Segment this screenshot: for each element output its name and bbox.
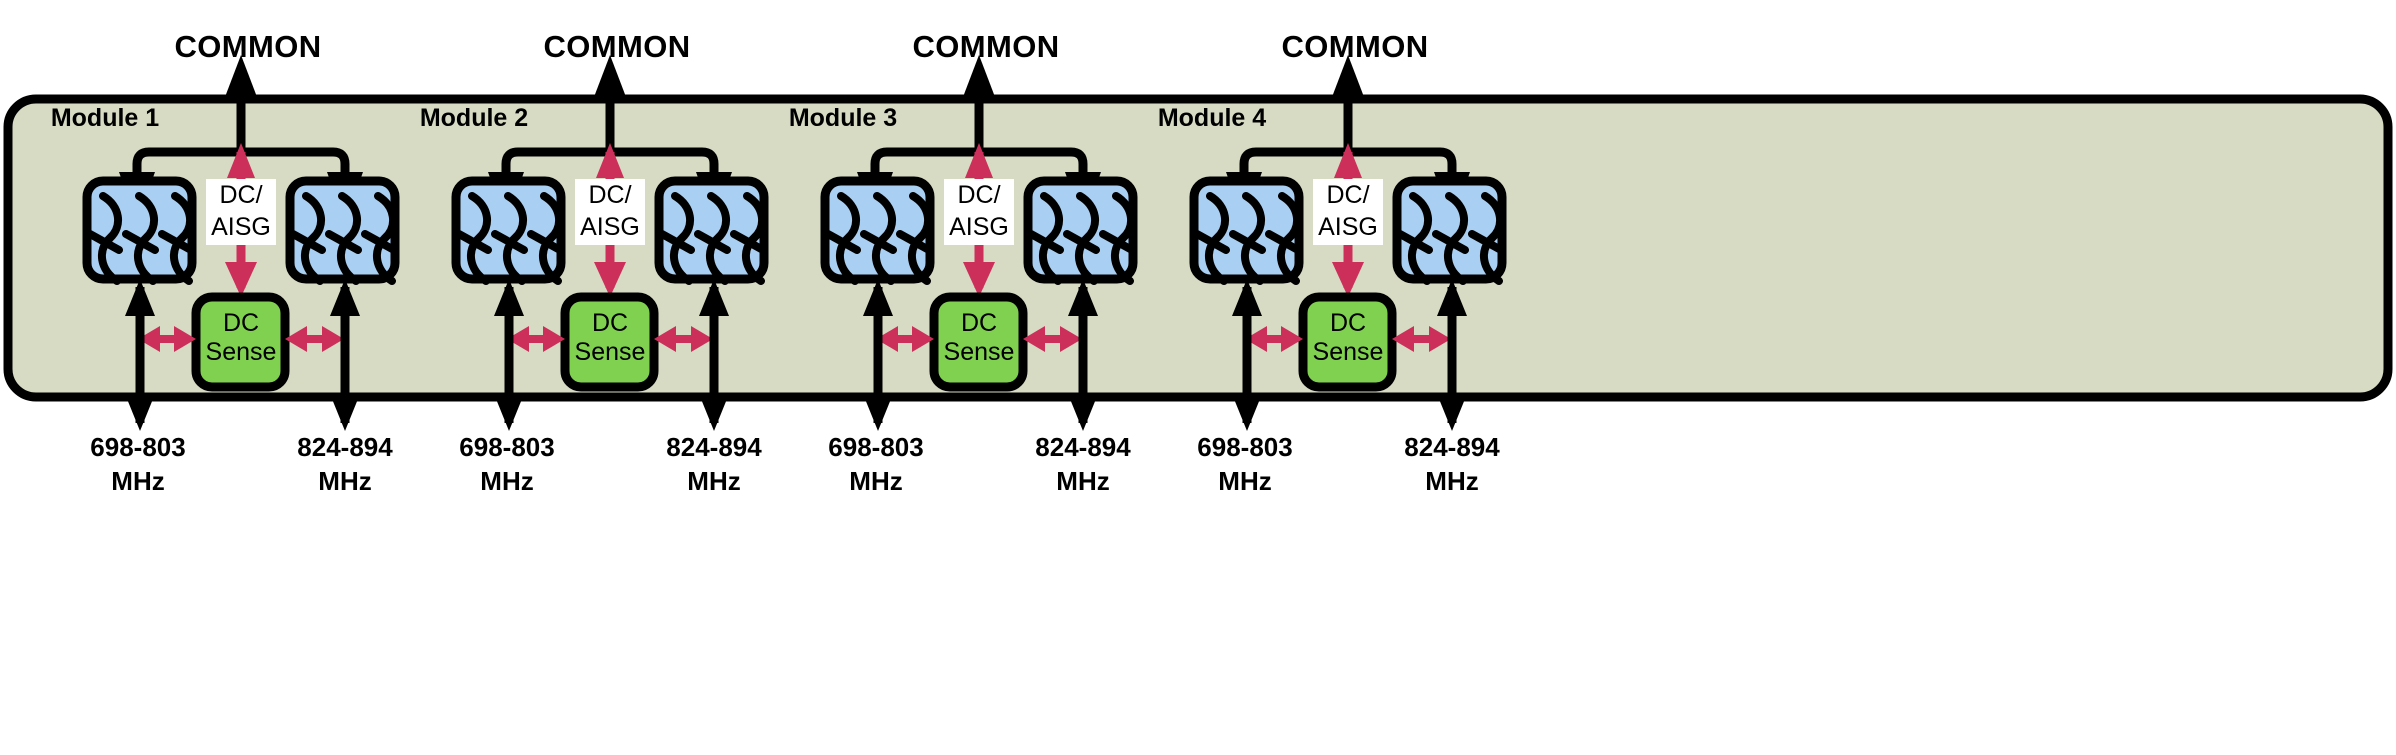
port-band-low: 698-803	[828, 432, 923, 462]
dc-aisg-label-line1: DC/	[219, 181, 262, 209]
dc-sense-label-line2: Sense	[944, 338, 1015, 366]
dc-aisg-label-line1: DC/	[1326, 181, 1369, 209]
dc-aisg-label-line1: DC/	[957, 181, 1000, 209]
common-label: COMMON	[912, 29, 1059, 64]
port-band-high: 824-894	[1035, 432, 1131, 462]
dc-aisg-label-line1: DC/	[588, 181, 631, 209]
port-band-high: 824-894	[666, 432, 762, 462]
dc-sense-label-line1: DC	[223, 309, 259, 337]
port-unit-low: MHz	[1218, 466, 1271, 496]
block-diagram: DC/ AISG DC Sense COMMON Module 1 698-80…	[0, 0, 2396, 755]
dc-aisg-label-line2: AISG	[580, 213, 640, 241]
port-band-low: 698-803	[90, 432, 185, 462]
common-label: COMMON	[1281, 29, 1428, 64]
common-label: COMMON	[174, 29, 321, 64]
dc-aisg-label-line2: AISG	[211, 213, 271, 241]
module-label: Module 2	[420, 104, 528, 132]
port-band-low: 698-803	[459, 432, 554, 462]
port-band-low: 698-803	[1197, 432, 1292, 462]
module-label: Module 3	[789, 104, 897, 132]
port-unit-high: MHz	[687, 466, 740, 496]
port-unit-high: MHz	[1425, 466, 1478, 496]
diagram-canvas: DC/ AISG DC Sense COMMON Module 1 698-80…	[0, 0, 2396, 755]
port-band-high: 824-894	[1404, 432, 1500, 462]
port-unit-low: MHz	[480, 466, 533, 496]
module-label: Module 4	[1158, 104, 1266, 132]
port-band-high: 824-894	[297, 432, 393, 462]
dc-sense-label-line2: Sense	[575, 338, 646, 366]
port-unit-low: MHz	[849, 466, 902, 496]
dc-sense-label-line1: DC	[961, 309, 997, 337]
dc-aisg-label-line2: AISG	[1318, 213, 1378, 241]
port-unit-high: MHz	[1056, 466, 1109, 496]
dc-sense-label-line2: Sense	[206, 338, 277, 366]
dc-sense-label-line1: DC	[592, 309, 628, 337]
module-label: Module 1	[51, 104, 159, 132]
port-unit-high: MHz	[318, 466, 371, 496]
common-label: COMMON	[543, 29, 690, 64]
port-unit-low: MHz	[111, 466, 164, 496]
dc-sense-label-line2: Sense	[1313, 338, 1384, 366]
dc-aisg-label-line2: AISG	[949, 213, 1009, 241]
dc-sense-label-line1: DC	[1330, 309, 1366, 337]
